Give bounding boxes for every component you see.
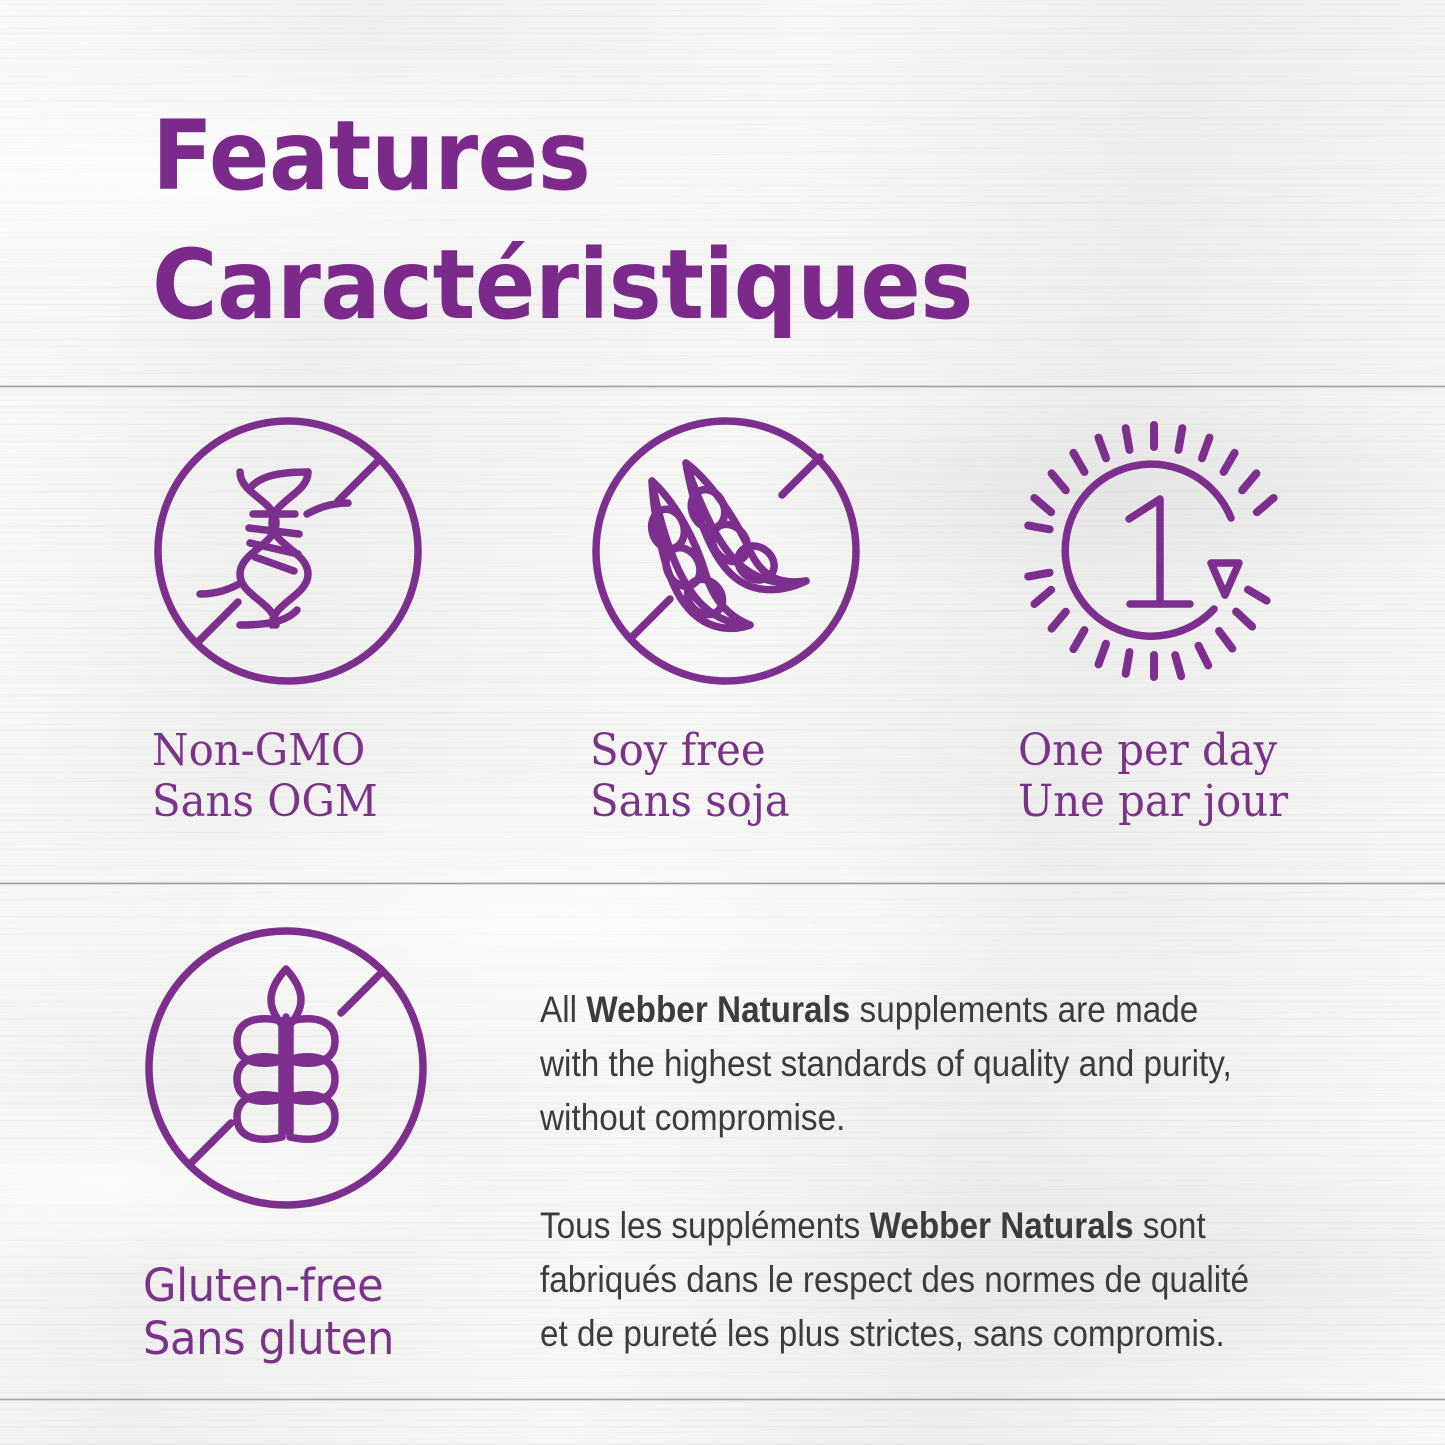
plank-seam-divider-top [0, 385, 1445, 388]
plank-seam-divider-middle [0, 882, 1445, 885]
dna-no-icon [152, 415, 424, 687]
brand-statement-fr: Tous les suppléments Webber Naturals son… [540, 1199, 1251, 1361]
page-title-fr: Caractéristiques [152, 221, 1222, 350]
feature-one-per-day: One per day Une par jour [1018, 415, 1302, 827]
feature-label-en: Gluten-free [143, 1259, 418, 1312]
one-per-day-icon [1018, 415, 1290, 687]
feature-caption-gluten-free: Gluten-free Sans gluten [143, 1259, 418, 1365]
feature-caption-one-per-day: One per day Une par jour [1018, 725, 1288, 827]
brand-statement: All Webber Naturals supplements are made… [540, 983, 1251, 1361]
feature-row-bottom: Gluten-free Sans gluten All Webber Natur… [0, 925, 1445, 1395]
feature-label-en: Soy free [590, 725, 848, 776]
page-title-en: Features [152, 92, 1222, 221]
brand-name-en: Webber Naturals [586, 989, 850, 1030]
feature-soy-free: Soy free Sans soja [590, 415, 862, 827]
feature-label-fr: Sans OGM [152, 776, 410, 827]
brand-name-fr: Webber Naturals [869, 1205, 1133, 1246]
statement-en-before: All [540, 989, 586, 1030]
soybean-pod-no-icon [590, 415, 862, 687]
feature-label-en: Non-GMO [152, 725, 410, 776]
feature-caption-soy-free: Soy free Sans soja [590, 725, 848, 827]
plank-seam-divider-bottom [0, 1398, 1445, 1401]
feature-label-fr: Sans soja [590, 776, 848, 827]
feature-non-gmo: Non-GMO Sans OGM [152, 415, 424, 827]
infographic-board: Features Caractéristiques [0, 0, 1445, 1445]
feature-gluten-free: Gluten-free Sans gluten [143, 925, 429, 1365]
feature-label-fr: Sans gluten [143, 1312, 418, 1365]
page-title: Features Caractéristiques [152, 92, 1222, 349]
feature-caption-non-gmo: Non-GMO Sans OGM [152, 725, 410, 827]
feature-label-fr: Une par jour [1018, 776, 1288, 827]
wheat-stalk-no-icon [143, 925, 429, 1211]
feature-label-en: One per day [1018, 725, 1288, 776]
statement-fr-before: Tous les suppléments [540, 1205, 869, 1246]
feature-row-top: Non-GMO Sans OGM [0, 415, 1445, 855]
brand-statement-en: All Webber Naturals supplements are made… [540, 983, 1251, 1145]
